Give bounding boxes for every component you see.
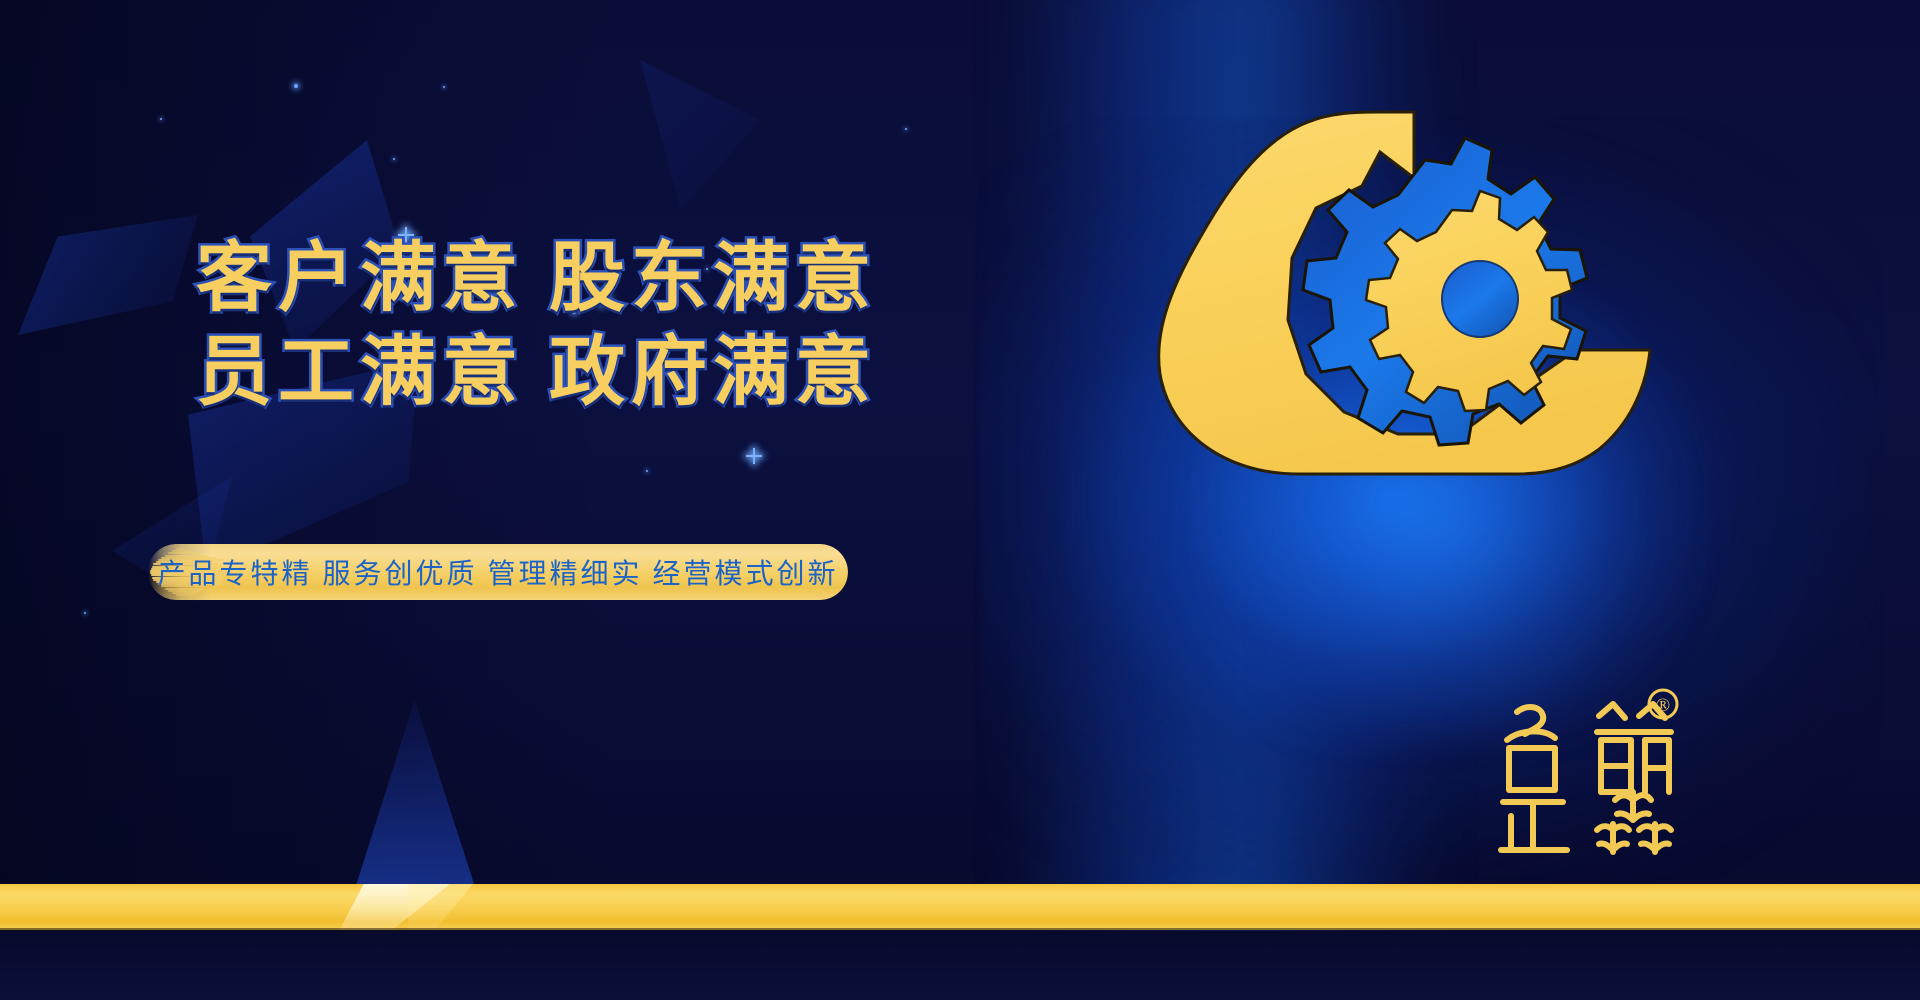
sparkle-dot bbox=[294, 84, 298, 88]
band-below-area bbox=[0, 931, 1920, 1000]
sparkle-dot bbox=[646, 470, 648, 472]
headline-line-1: 客户满意 股东满意 bbox=[196, 232, 1016, 326]
sparkle-dot bbox=[905, 128, 907, 130]
band-highlight-secondary bbox=[408, 884, 498, 930]
gear-swoosh-logo bbox=[1130, 82, 1700, 482]
sparkle-star bbox=[746, 448, 762, 464]
wordmark-char-sen bbox=[1597, 792, 1671, 852]
sparkle-dot bbox=[443, 86, 445, 88]
registered-mark-glyph: ® bbox=[1656, 695, 1670, 716]
logo-gear-hub bbox=[1442, 261, 1518, 337]
wordmark-char-zheng bbox=[1501, 802, 1567, 850]
sparkle-dot bbox=[84, 612, 86, 614]
headline-slogan: 客户满意 股东满意 员工满意 政府满意 bbox=[196, 232, 1016, 420]
banner-stage: 客户满意 股东满意 员工满意 政府满意 产品专特精 服务创优质 管理精细实 经营… bbox=[0, 0, 1920, 1000]
sparkle-dot bbox=[393, 158, 395, 160]
bottom-gold-band bbox=[0, 884, 1920, 930]
headline-line-2: 员工满意 政府满意 bbox=[196, 326, 1016, 420]
sparkle-dot bbox=[160, 118, 162, 120]
company-wordmark: ® bbox=[1487, 688, 1692, 860]
subtitle-pill: 产品专特精 服务创优质 管理精细实 经营模式创新 bbox=[148, 544, 848, 600]
subtitle-text: 产品专特精 服务创优质 管理精细实 经营模式创新 bbox=[148, 544, 848, 600]
wordmark-char-tai bbox=[1507, 707, 1555, 790]
